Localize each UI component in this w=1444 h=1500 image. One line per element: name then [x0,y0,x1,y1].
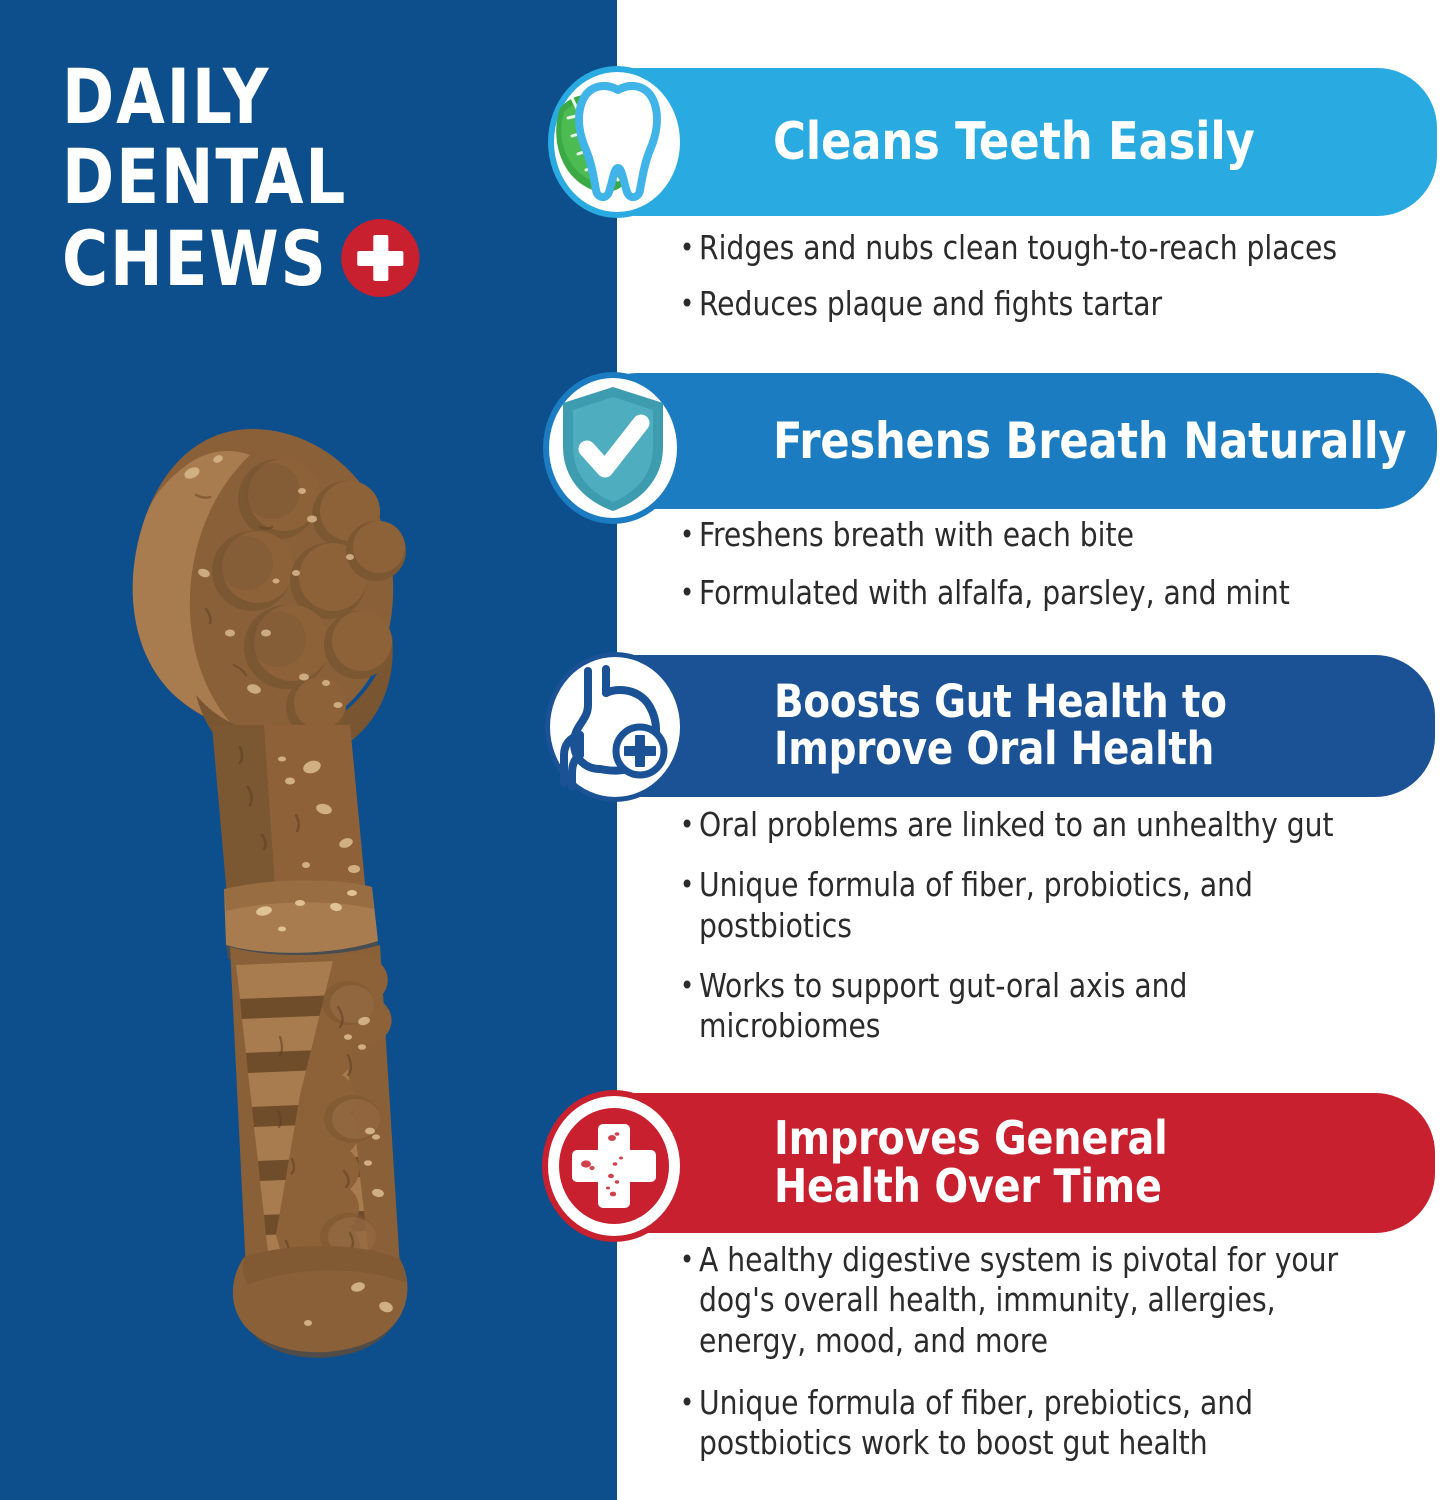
bullet-item: • Unique formula of fiber, prebiotics, a… [680,1383,1345,1464]
benefit-bullets-cleans-teeth: • Ridges and nubs clean tough-to-reach p… [680,228,1444,325]
bullet-text: Works to support gut-oral axis and micro… [699,966,1345,1047]
stomach-plus-icon [545,652,685,802]
benefit-banner-gut-health: Boosts Gut Health to Improve Oral Health [578,655,1435,797]
bullet-dot-icon: • [680,284,699,324]
bullet-dot-icon: • [680,573,699,613]
bullet-item: • Ridges and nubs clean tough-to-reach p… [680,228,1412,268]
bullet-dot-icon: • [680,805,699,845]
bullet-dot-icon: • [680,515,699,555]
bullet-text: A healthy digestive system is pivotal fo… [699,1240,1345,1361]
bullet-dot-icon: • [680,1383,699,1464]
benefit-heading-cleans-teeth: Cleans Teeth Easily [773,115,1255,169]
bullet-text: Ridges and nubs clean tough-to-reach pla… [699,228,1412,268]
benefit-banner-cleans-teeth: Cleans Teeth Easily [578,68,1437,216]
heading-line-1: Improves General [774,1111,1168,1165]
benefit-banner-general-health: Improves General Health Over Time [578,1093,1435,1233]
bullet-dot-icon: • [680,1240,699,1361]
heading-line-1: Boosts Gut Health to [774,675,1227,728]
bullet-dot-icon: • [680,966,699,1047]
bullet-item: • Freshens breath with each bite [680,515,1412,555]
tooth-with-mint-leaf-icon [548,66,686,218]
bullet-text: Unique formula of fiber, probiotics, and… [699,865,1345,946]
benefit-bullets-gut-health: • Oral problems are linked to an unhealt… [680,805,1380,1046]
benefit-heading-gut-health: Boosts Gut Health to Improve Oral Health [774,679,1227,773]
heading-line-2: Improve Oral Health [774,722,1214,775]
shield-check-icon [543,372,683,524]
heading-line-2: Health Over Time [774,1159,1162,1213]
benefit-banner-freshens-breath: Freshens Breath Naturally [578,373,1437,509]
bullet-dot-icon: • [680,865,699,946]
bullet-text: Unique formula of fiber, prebiotics, and… [699,1383,1345,1464]
bullet-text: Formulated with alfalfa, parsley, and mi… [699,573,1412,613]
benefit-bullets-freshens-breath: • Freshens breath with each bite • Formu… [680,515,1444,614]
benefit-heading-general-health: Improves General Health Over Time [774,1115,1168,1211]
bullet-item: • Reduces plaque and fights tartar [680,284,1412,324]
benefit-bullets-general-health: • A healthy digestive system is pivotal … [680,1240,1380,1463]
bullet-dot-icon: • [680,228,699,268]
bullet-item: • Unique formula of fiber, probiotics, a… [680,865,1345,946]
bullet-text: Oral problems are linked to an unhealthy… [699,805,1345,845]
bullet-item: • Works to support gut-oral axis and mic… [680,966,1345,1047]
bullet-text: Freshens breath with each bite [699,515,1412,555]
bullet-text: Reduces plaque and fights tartar [699,284,1412,324]
medical-cross-circle-icon [542,1090,686,1242]
benefits-list: Cleans Teeth Easily [0,0,1444,1500]
bullet-item: • Oral problems are linked to an unhealt… [680,805,1345,845]
infographic-page: DAILY DENTAL CHEWS [0,0,1444,1500]
benefit-heading-freshens-breath: Freshens Breath Naturally [773,415,1406,467]
bullet-item: • Formulated with alfalfa, parsley, and … [680,573,1412,613]
bullet-item: • A healthy digestive system is pivotal … [680,1240,1345,1361]
